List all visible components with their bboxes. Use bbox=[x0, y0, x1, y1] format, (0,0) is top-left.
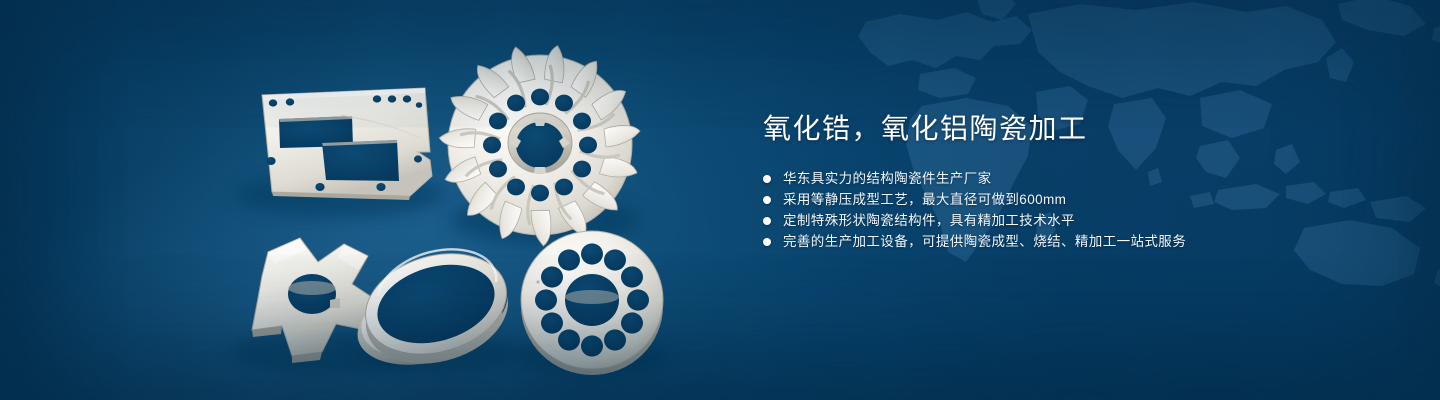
feature-list: 华东具实力的结构陶瓷件生产厂家 采用等静压成型工艺，最大直径可做到600mm 定… bbox=[763, 168, 1383, 252]
ceramic-products-photo bbox=[0, 0, 720, 400]
ceramic-machined-plate bbox=[262, 88, 432, 200]
ceramic-processing-banner: 氧化锆，氧化铝陶瓷加工 华东具实力的结构陶瓷件生产厂家 采用等静压成型工艺，最大… bbox=[0, 0, 1440, 400]
bullet-dot-icon bbox=[763, 238, 771, 246]
list-item: 完善的生产加工设备，可提供陶瓷成型、烧结、精加工一站式服务 bbox=[763, 231, 1383, 252]
ceramic-perforated-disc bbox=[521, 231, 663, 375]
list-item: 采用等静压成型工艺，最大直径可做到600mm bbox=[763, 189, 1383, 210]
feature-text: 完善的生产加工设备，可提供陶瓷成型、烧结、精加工一站式服务 bbox=[783, 231, 1186, 252]
bullet-dot-icon bbox=[763, 217, 771, 225]
list-item: 华东具实力的结构陶瓷件生产厂家 bbox=[763, 168, 1383, 189]
page-title: 氧化锆，氧化铝陶瓷加工 bbox=[763, 112, 1383, 146]
feature-text: 采用等静压成型工艺，最大直径可做到600mm bbox=[783, 189, 1066, 210]
list-item: 定制特殊形状陶瓷结构件，具有精加工技术水平 bbox=[763, 210, 1383, 231]
bullet-dot-icon bbox=[763, 175, 771, 183]
feature-text: 定制特殊形状陶瓷结构件，具有精加工技术水平 bbox=[783, 210, 1075, 231]
banner-copy: 氧化锆，氧化铝陶瓷加工 华东具实力的结构陶瓷件生产厂家 采用等静压成型工艺，最大… bbox=[763, 112, 1383, 252]
bullet-dot-icon bbox=[763, 196, 771, 204]
feature-text: 华东具实力的结构陶瓷件生产厂家 bbox=[783, 168, 992, 189]
